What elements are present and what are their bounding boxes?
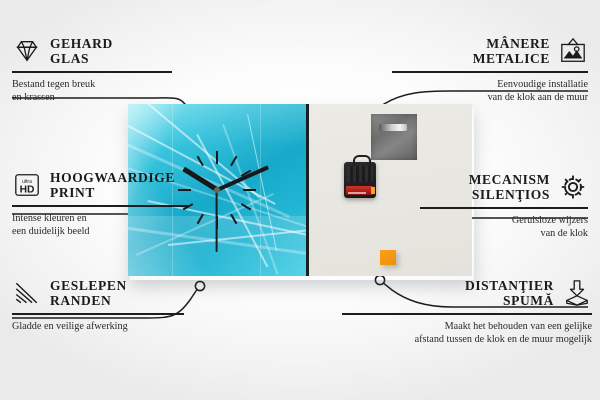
callout-subtitle: Intense kleuren en een duidelijk beeld (12, 212, 188, 239)
callout-rule (12, 205, 188, 207)
callout-mecanism-silentios: MECANISM SILENŢIOS Geruisloze wijzers va… (420, 172, 588, 241)
callout-title: DISTANŢIER SPUMĂ (465, 278, 554, 308)
metal-hanger-plate (371, 114, 417, 160)
svg-text:HD: HD (20, 185, 35, 196)
callout-subtitle: Eenvoudige installatie van de klok aan d… (392, 78, 588, 105)
callout-subtitle: Maakt het behouden van een gelijke afsta… (342, 320, 592, 347)
callout-header: GESLEPEN RANDEN (12, 278, 184, 308)
hanger-keyhole-slot (379, 124, 407, 131)
callout-geslepen-randen: GESLEPEN RANDEN Gladde en veilige afwerk… (12, 278, 184, 333)
spacer-down-arrow-icon (562, 279, 592, 307)
callout-title: MÂNERE METALICE (473, 36, 550, 66)
foam-spacer-pad (380, 250, 396, 265)
clock-center-cap (214, 187, 220, 193)
callout-hoogwaardige-print: ultra HD HOOGWAARDIGE PRINT Intense kleu… (12, 170, 188, 239)
infographic-canvas: GEHARD GLAS Bestand tegen breuk en krass… (0, 0, 600, 400)
callout-header: GEHARD GLAS (12, 36, 172, 66)
callout-title: MECANISM SILENŢIOS (469, 172, 550, 202)
callout-gehard-glas: GEHARD GLAS Bestand tegen breuk en krass… (12, 36, 172, 105)
callout-subtitle: Bestand tegen breuk en krassen (12, 78, 172, 105)
gear-icon (558, 173, 588, 201)
callout-title: HOOGWAARDIGE PRINT (50, 170, 175, 200)
callout-distantier-spuma: DISTANŢIER SPUMĂ Maakt het behouden van … (342, 278, 592, 347)
callout-rule (342, 313, 592, 315)
battery (346, 186, 373, 195)
framed-picture-icon (558, 37, 588, 65)
callout-header: MECANISM SILENŢIOS (420, 172, 588, 202)
callout-subtitle: Geruisloze wijzers van de klok (420, 214, 588, 241)
callout-rule (420, 207, 588, 209)
clock-second-hand (216, 190, 218, 252)
ultra-hd-icon: ultra HD (12, 171, 42, 199)
callout-manere-metalice: MÂNERE METALICE Eenvoudige installatie v… (392, 36, 588, 105)
callout-title: GEHARD GLAS (50, 36, 113, 66)
diamond-icon (12, 37, 42, 65)
callout-header: ultra HD HOOGWAARDIGE PRINT (12, 170, 188, 200)
battery-label (348, 192, 366, 194)
callout-rule (392, 71, 588, 73)
clock-mechanism-box (344, 162, 376, 198)
callout-subtitle: Gladde en veilige afwerking (12, 320, 184, 333)
callout-rule (12, 71, 172, 73)
callout-rule (12, 313, 184, 315)
connector-dot-geslepen-randen (195, 281, 204, 290)
mechanism-vents (347, 166, 373, 182)
callout-title: GESLEPEN RANDEN (50, 278, 127, 308)
battery-terminal (371, 187, 375, 194)
callout-header: MÂNERE METALICE (392, 36, 588, 66)
beveled-edges-icon (12, 279, 42, 307)
callout-header: DISTANŢIER SPUMĂ (342, 278, 592, 308)
